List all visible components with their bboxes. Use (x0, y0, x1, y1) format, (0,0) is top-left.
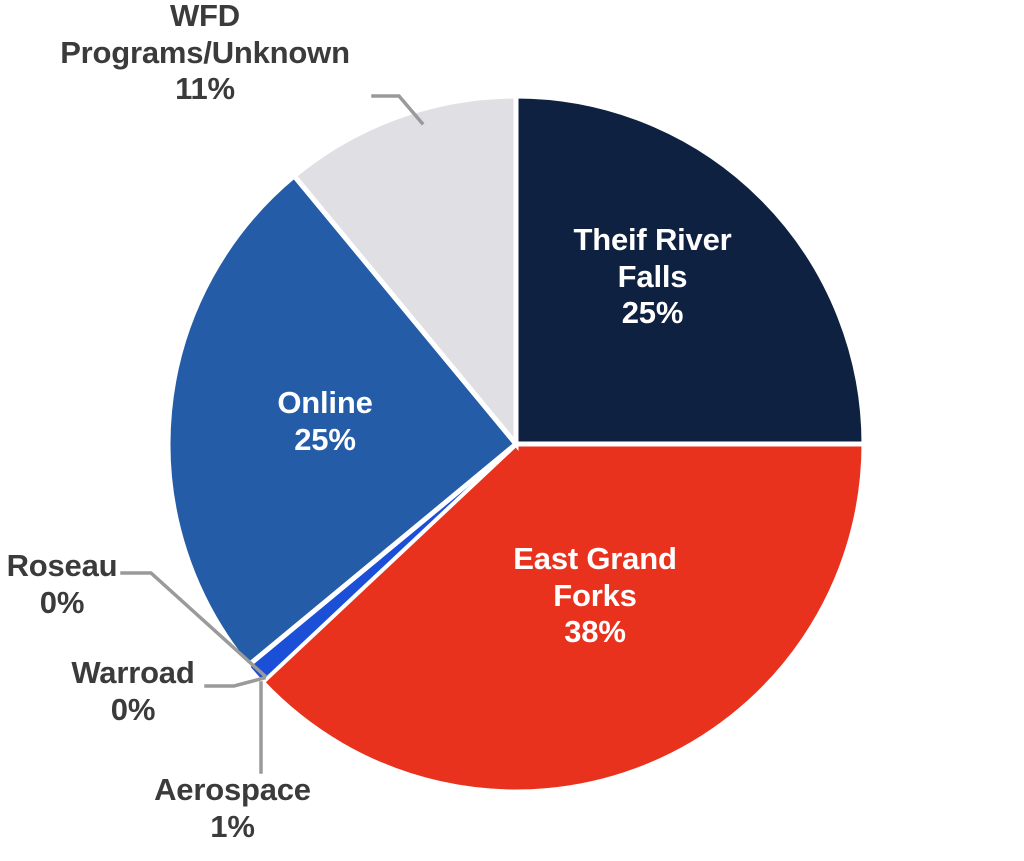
slice-label-warroad: Warroad 0% (48, 655, 218, 728)
slice-label-percent: 11% (25, 71, 385, 108)
pie-chart: Theif River Falls 25% East Grand Forks 3… (0, 0, 1024, 861)
pie-slices (168, 96, 864, 792)
slice-label-name-line1: Roseau (0, 548, 132, 585)
slice-label-percent: 0% (48, 692, 218, 729)
slice-label-name-line1: Warroad (48, 655, 218, 692)
slice-label-aerospace: Aerospace 1% (135, 772, 330, 845)
slice-label-wfd-programs-unknown: WFD Programs/Unknown 11% (25, 0, 385, 108)
pie-chart-graphic (0, 0, 1024, 861)
slice-label-name-line2: Programs/Unknown (25, 35, 385, 72)
slice-label-name-line1: WFD (25, 0, 385, 35)
slice-label-roseau: Roseau 0% (0, 548, 132, 621)
slice-label-percent: 1% (135, 809, 330, 846)
slice-label-name-line1: Aerospace (135, 772, 330, 809)
pie-slice-theif-river-falls[interactable] (516, 96, 864, 444)
slice-label-percent: 0% (0, 585, 132, 622)
